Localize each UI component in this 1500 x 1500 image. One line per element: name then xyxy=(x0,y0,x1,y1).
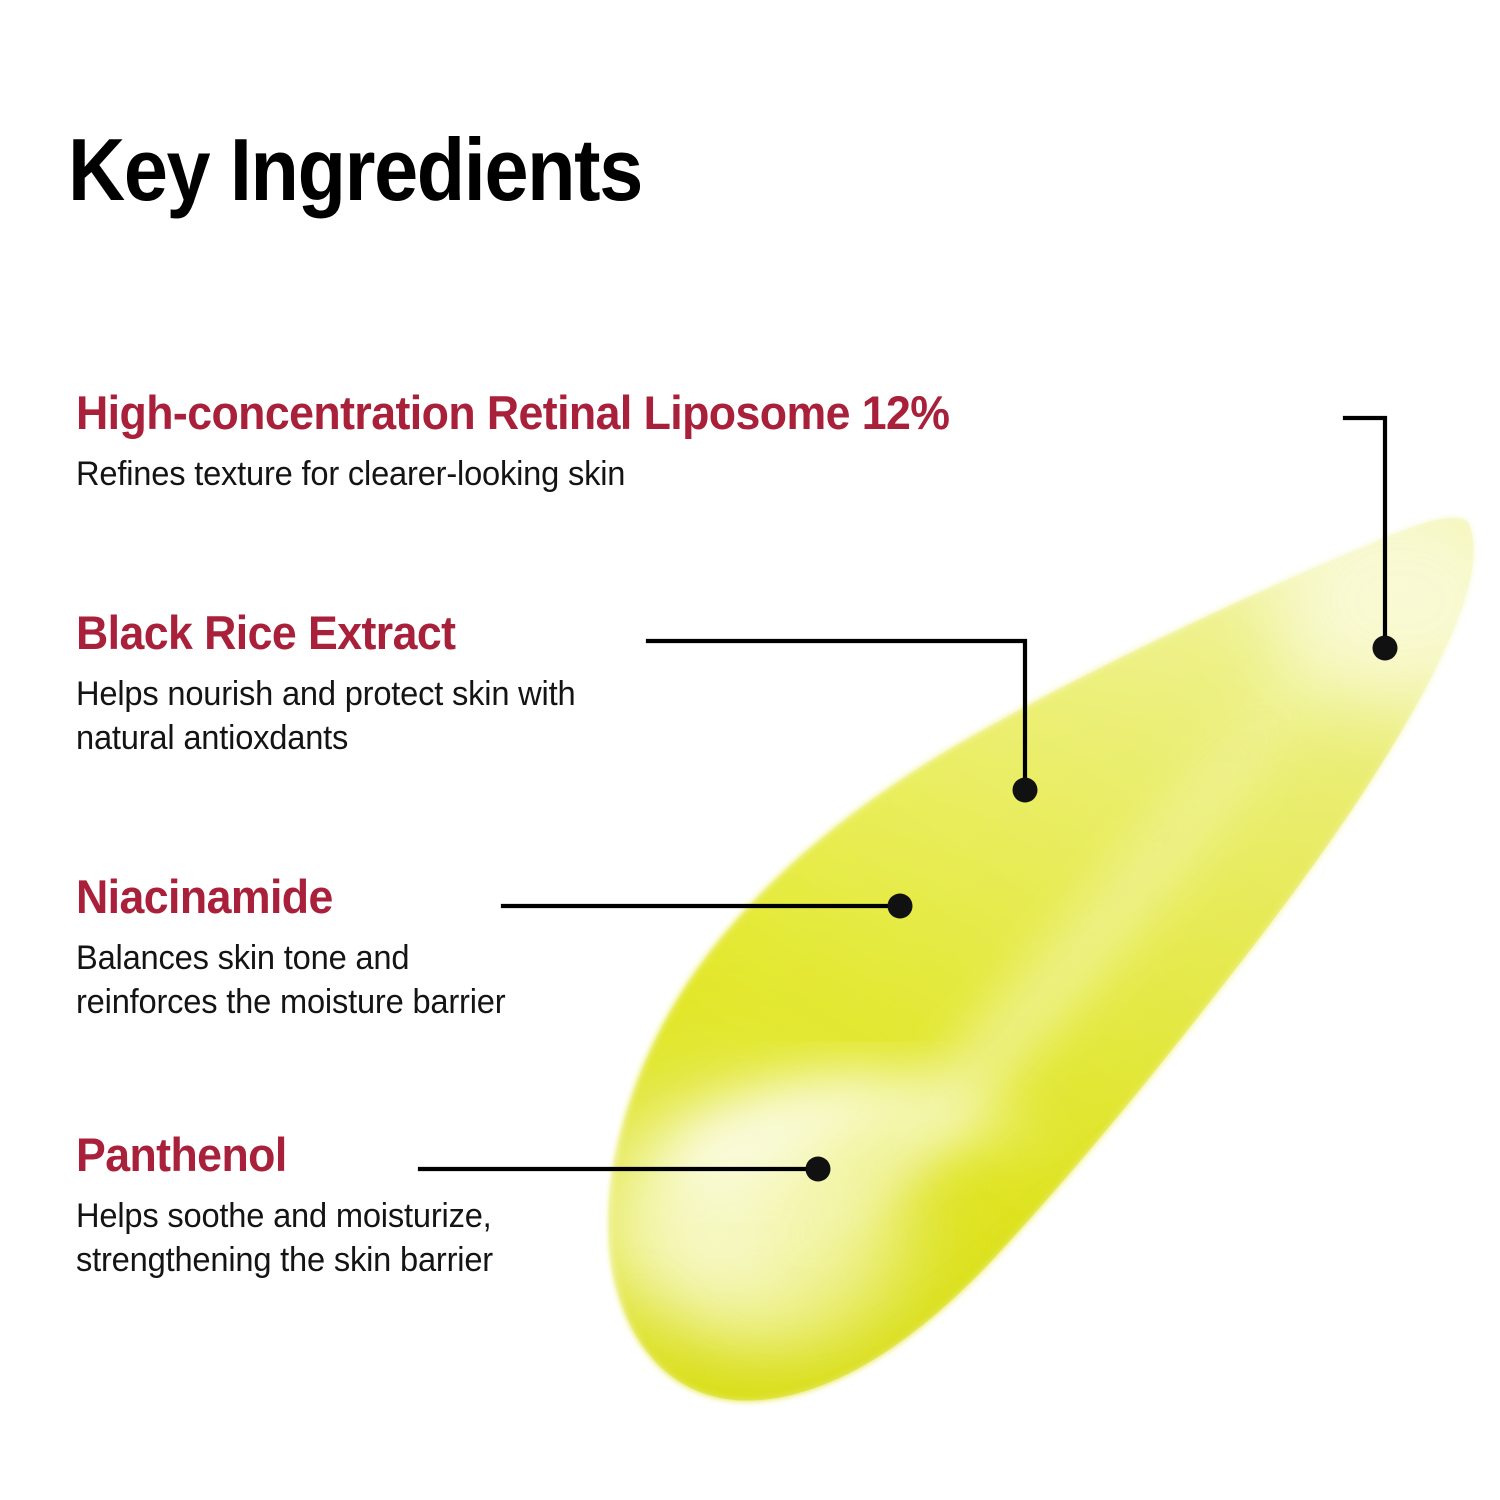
ingredient-item-niacinamide: Niacinamide Balances skin tone and reinf… xyxy=(76,872,523,1024)
ingredient-description: Balances skin tone and reinforces the mo… xyxy=(76,936,505,1024)
ingredient-item-retinal-liposome: High-concentration Retinal Liposome 12% … xyxy=(76,388,995,496)
ingredient-name: High-concentration Retinal Liposome 12% xyxy=(76,388,949,438)
page-title: Key Ingredients xyxy=(68,126,642,214)
ingredient-description: Refines texture for clearer-looking skin xyxy=(76,452,959,496)
ingredient-item-panthenol: Panthenol Helps soothe and moisturize, s… xyxy=(76,1130,510,1282)
ingredient-name: Black Rice Extract xyxy=(76,608,570,658)
ingredient-name: Niacinamide xyxy=(76,872,501,922)
ingredient-name: Panthenol xyxy=(76,1130,489,1180)
ingredient-description: Helps soothe and moisturize, strengtheni… xyxy=(76,1194,493,1282)
ingredient-item-black-rice-extract: Black Rice Extract Helps nourish and pro… xyxy=(76,608,596,760)
key-ingredients-infographic: Key Ingredients xyxy=(0,0,1500,1500)
ingredient-description: Helps nourish and protect skin with natu… xyxy=(76,672,575,760)
cream-texture-swatch xyxy=(600,470,1500,1410)
